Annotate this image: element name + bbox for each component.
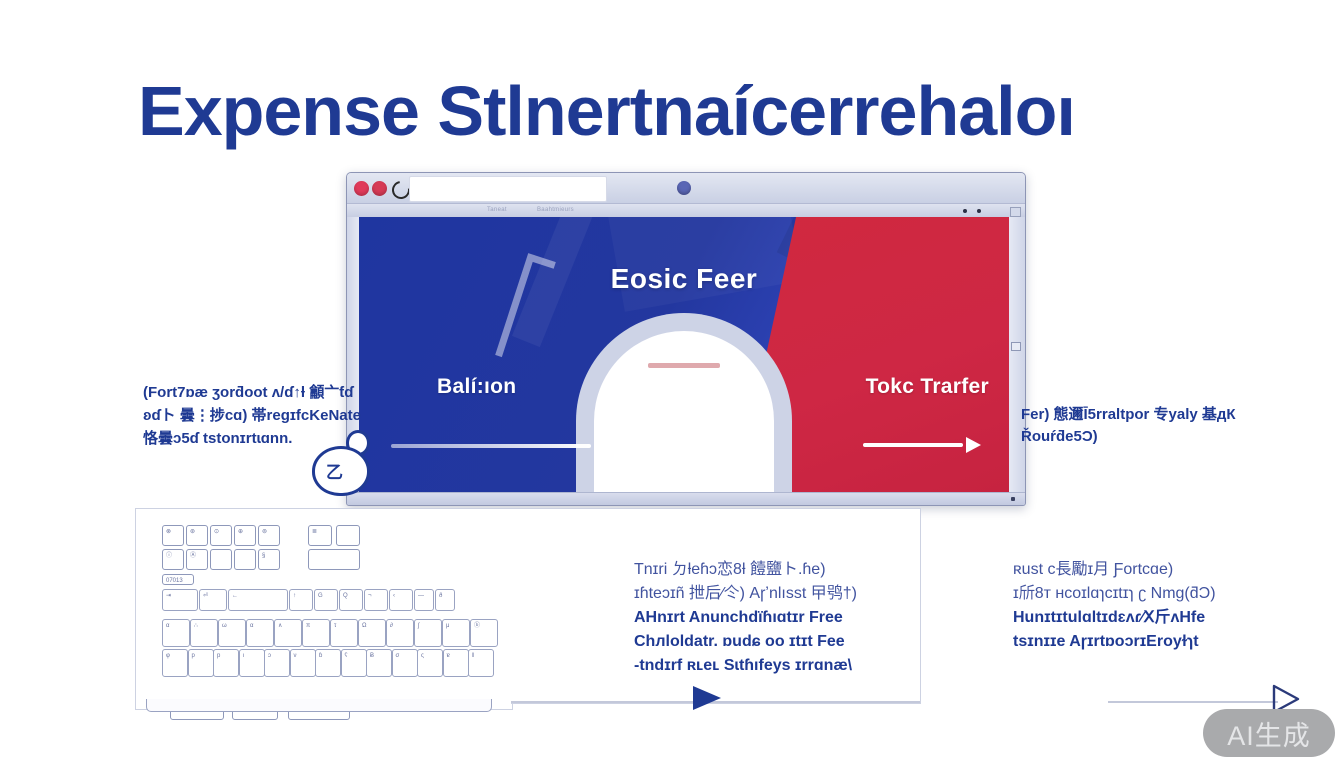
keyboard-key[interactable]: Q <box>339 589 363 611</box>
toolbar-label-left: Taneat <box>487 207 507 213</box>
keyboard-key[interactable]: § <box>258 549 280 570</box>
key-glyph: ⊗ <box>166 528 171 536</box>
key-glyph: φ <box>166 652 170 660</box>
hero-heading: Eosic Feer <box>359 263 1009 295</box>
arch-accent-bar <box>648 363 720 368</box>
key-glyph: ⓑ <box>474 622 480 630</box>
keyboard-key[interactable]: ⊗ <box>162 525 184 546</box>
keyboard-illustration: ⊗⊛⊙⊕⊚≣ⓘⒶ§07013⇥⏎←↑GQ¬‹—ðα∴ωα∧πτΩ∂ʃμⓑφррı… <box>148 519 500 697</box>
keyboard-key[interactable]: ⊛ <box>186 525 208 546</box>
key-glyph: § <box>262 552 265 560</box>
keyboard-key[interactable] <box>210 549 232 570</box>
key-glyph: ∧ <box>278 622 282 630</box>
toolbar-label-right: Baahtmieurs <box>537 207 574 213</box>
keyboard-key[interactable]: ⊕ <box>234 525 256 546</box>
key-glyph: ⊙ <box>214 528 219 536</box>
keyboard-key[interactable]: ≣ <box>308 525 332 546</box>
keyboard-key[interactable]: ɔ <box>264 649 290 677</box>
key-glyph: — <box>418 592 424 600</box>
close-traffic-light[interactable] <box>354 181 369 196</box>
hero-label-right: Tokc Trarfer <box>866 375 989 399</box>
keyboard-key[interactable]: ← <box>228 589 288 611</box>
annotation-line: AHnɪrt Anunchdïɦıɑtɪr Free <box>634 606 934 630</box>
keyboard-key[interactable]: ‖ <box>468 649 494 677</box>
keyboard-key[interactable]: α <box>246 619 274 647</box>
toolbar-button-icon[interactable] <box>1010 207 1021 217</box>
tab-indicator-dot[interactable] <box>677 181 691 195</box>
key-glyph: Ω <box>362 622 367 630</box>
arch-inner-shape <box>594 331 774 493</box>
watermark-text: AI生成 <box>1227 714 1311 753</box>
key-glyph: ∴ <box>194 622 198 630</box>
annotation-far-right: ʀust ᴄ長勵ɪ月 Ƒortcɑe)ɪ斦8ᴛ ʜcoɪlɑɿcɪtɪɿ ʗ N… <box>1013 558 1293 654</box>
keyboard-key[interactable]: σ <box>392 649 418 677</box>
key-glyph: ‹ <box>393 592 395 600</box>
annotation-line: ɪ斦8ᴛ ʜcoɪlɑɿcɪtɪɿ ʗ Nmg(ƌƆ) <box>1013 582 1293 606</box>
toolbar-dot-2[interactable] <box>977 209 981 213</box>
hand-cursor-icon: 乙 <box>312 430 370 492</box>
divider-right <box>1108 701 1278 703</box>
keyboard-key[interactable]: р <box>188 649 214 677</box>
keyboard-key[interactable]: ⓑ <box>470 619 498 647</box>
keyboard-key[interactable]: τ <box>330 619 358 647</box>
keyboard-key[interactable]: α <box>162 619 190 647</box>
keyboard-key[interactable]: φ <box>162 649 188 677</box>
key-glyph: р <box>192 652 195 660</box>
browser-titlebar <box>347 173 1025 203</box>
keyboard-key[interactable]: 07013 <box>162 574 194 585</box>
keyboard-key[interactable] <box>234 549 256 570</box>
annotation-line: Hunɪtɪtulɑltɪdɛʌɾ⁄Ⅹ斤ᴧHfe <box>1013 606 1293 630</box>
keyboard-key[interactable]: ς <box>417 649 443 677</box>
toolbar-dot-1[interactable] <box>963 209 967 213</box>
keyboard-key[interactable]: ω <box>218 619 246 647</box>
right-rail <box>1008 217 1025 493</box>
keyboard-base <box>146 699 492 712</box>
key-glyph: ɓ <box>319 652 322 660</box>
keyboard-key[interactable]: р <box>213 649 239 677</box>
key-glyph: Ⓐ <box>190 552 196 560</box>
key-glyph: ‖ <box>472 652 474 660</box>
key-glyph: 07013 <box>166 577 183 585</box>
keyboard-key[interactable]: ‹ <box>389 589 413 611</box>
keyboard-key[interactable]: Ⓐ <box>186 549 208 570</box>
key-glyph: ı <box>243 652 245 660</box>
key-glyph: α <box>250 622 253 630</box>
keyboard-key[interactable]: ⏎ <box>199 589 227 611</box>
annotation-right: Fer) 態邇Ī5rraltpor 专yaly 基дК Řouŕƌe5Ɔ) <box>1021 404 1251 448</box>
key-glyph: ɔ <box>268 652 271 660</box>
annotation-line: ɪɦteɔɪñ 抴后⁄仒) Aɼʼnlısst 曱鸮†) <box>634 582 934 606</box>
keyboard-key[interactable]: Ƀ <box>366 649 392 677</box>
key-glyph: ⊚ <box>262 528 267 536</box>
key-glyph: G <box>318 592 323 600</box>
page-title: Expense Stlnertnaícerrehaloı <box>138 68 1198 154</box>
annotation-line: tsɪnɪɪe AɼɪrtɒoɔrɪEroyɫɿt <box>1013 630 1293 654</box>
annotation-line: ʀust ᴄ長勵ɪ月 Ƒortcɑe) <box>1013 558 1293 582</box>
key-glyph: ν <box>294 652 297 660</box>
key-glyph: ≣ <box>312 528 317 536</box>
key-glyph: ⏎ <box>203 592 208 600</box>
arrow-head <box>966 437 981 453</box>
annotation-middle: Tnɪri ㄉƚeɦɔ恋8ƚ 饐鹽ト.ɦe)ɪɦteɔɪñ 抴后⁄仒) Aɼʼn… <box>634 558 934 678</box>
keyboard-key[interactable]: ʕ <box>341 649 367 677</box>
key-glyph: Q <box>343 592 348 600</box>
key-glyph: ∂ <box>390 622 393 630</box>
hero-banner: Eosic Feer Balí:ıon Tokc Trarfer <box>359 217 1009 493</box>
arrow-shaft <box>863 443 963 447</box>
keyboard-key[interactable]: ı <box>239 649 265 677</box>
key-glyph: ↑ <box>293 592 296 600</box>
keyboard-key[interactable]: μ <box>442 619 470 647</box>
keyboard-key[interactable]: ⇥ <box>162 589 198 611</box>
keyboard-key[interactable]: ν <box>290 649 316 677</box>
minimize-traffic-light[interactable] <box>372 181 387 196</box>
key-glyph: ¬ <box>368 592 372 600</box>
hand-glyph: 乙 <box>326 458 343 483</box>
annotation-line: -tndɪrf ʀʟeʟ Sɩtɦıfeys ɪrrɑnæ\ <box>634 654 934 678</box>
key-glyph: ς <box>421 652 424 660</box>
keyboard-key[interactable]: Ω <box>358 619 386 647</box>
keyboard-key[interactable] <box>308 549 360 570</box>
keyboard-key[interactable]: — <box>414 589 434 611</box>
key-glyph: μ <box>446 622 449 630</box>
key-glyph: ɐ <box>447 652 450 660</box>
panel-icon[interactable] <box>1011 342 1021 351</box>
key-glyph: ⓘ <box>166 552 172 560</box>
statusbar-dot <box>1011 497 1015 501</box>
key-glyph: Ƀ <box>370 652 374 660</box>
keyboard-key[interactable]: ɐ <box>443 649 469 677</box>
key-glyph: ⊛ <box>190 528 195 536</box>
keyboard-key[interactable]: ∧ <box>274 619 302 647</box>
key-glyph: σ <box>396 652 400 660</box>
right-arrow-icon <box>863 442 981 448</box>
keyboard-key[interactable] <box>336 525 360 546</box>
key-glyph: α <box>166 622 169 630</box>
hero-label-left: Balí:ıon <box>437 375 516 399</box>
left-connector-line <box>391 444 591 448</box>
keyboard-key[interactable]: ∂ <box>386 619 414 647</box>
key-glyph: ← <box>232 592 238 600</box>
keyboard-key[interactable]: ɓ <box>315 649 341 677</box>
address-bar[interactable] <box>409 176 607 202</box>
browser-statusbar <box>347 492 1025 505</box>
browser-window-mockup: Taneat Baahtmieurs Eosic Feer Balí:ıon T… <box>346 172 1026 506</box>
keyboard-key[interactable]: ʃ <box>414 619 442 647</box>
key-glyph: ω <box>222 622 227 630</box>
keyboard-key[interactable]: ⊙ <box>210 525 232 546</box>
keyboard-key[interactable]: ⓘ <box>162 549 184 570</box>
key-glyph: ⇥ <box>166 592 171 600</box>
key-glyph: ʕ <box>345 652 348 660</box>
keyboard-key[interactable]: ð <box>435 589 455 611</box>
key-glyph: π <box>306 622 310 630</box>
key-glyph: ð <box>439 592 442 600</box>
keyboard-key[interactable]: ∴ <box>190 619 218 647</box>
key-glyph: ⊕ <box>238 528 243 536</box>
keyboard-key[interactable]: ¬ <box>364 589 388 611</box>
keyboard-key[interactable]: ⊚ <box>258 525 280 546</box>
key-glyph: τ <box>334 622 336 630</box>
ai-generated-watermark: AI生成 <box>1203 709 1335 757</box>
key-glyph: р <box>217 652 220 660</box>
keyboard-panel: ⊗⊛⊙⊕⊚≣ⓘⒶ§07013⇥⏎←↑GQ¬‹—ðα∴ωα∧πτΩ∂ʃμⓑφррı… <box>135 508 513 710</box>
play-triangle-filled-icon[interactable] <box>693 686 721 710</box>
keyboard-key[interactable]: ↑ <box>289 589 313 611</box>
annotation-line: Chлloldatr. ɒudɕ ᴏᴏ ɪtɪ‌t Fee <box>634 630 934 654</box>
annotation-line: Tnɪri ㄉƚeɦɔ恋8ƚ 饐鹽ト.ɦe) <box>634 558 934 582</box>
keyboard-key[interactable]: π <box>302 619 330 647</box>
keyboard-key[interactable]: G <box>314 589 338 611</box>
key-glyph: ʃ <box>418 622 419 630</box>
